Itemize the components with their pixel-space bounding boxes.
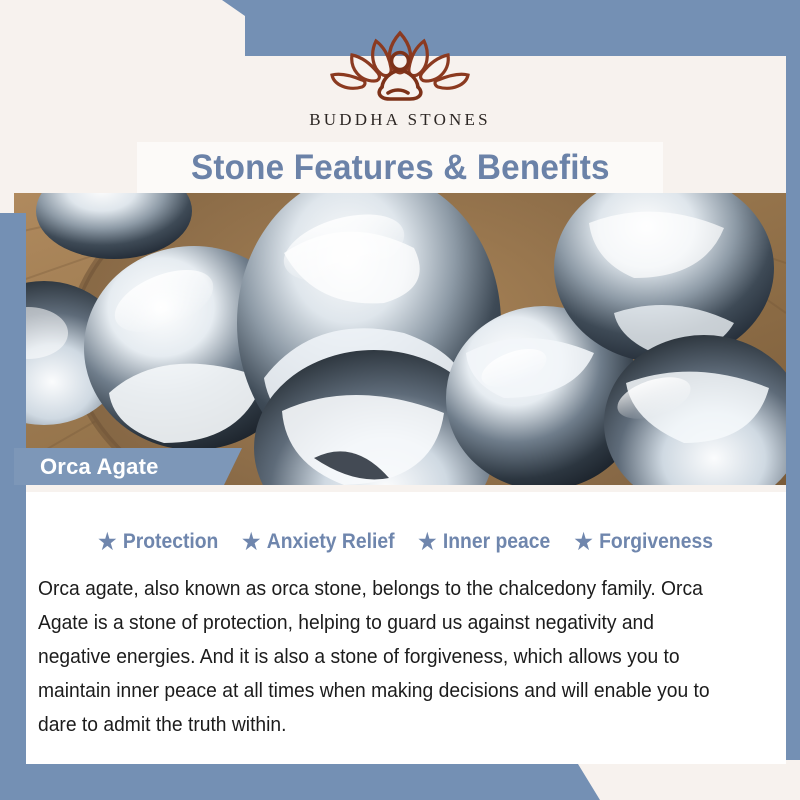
infographic-page: BUDDHA STONES Stone Features & Benefits …	[0, 0, 800, 800]
frame-left-accent	[0, 213, 26, 800]
stone-name-label: Orca Agate	[40, 454, 159, 480]
star-icon: ★	[418, 531, 436, 553]
benefit-label: Forgiveness	[599, 530, 713, 554]
brand-name: BUDDHA STONES	[309, 110, 491, 130]
star-icon: ★	[242, 531, 260, 553]
lotus-meditation-logo-icon	[305, 22, 495, 108]
benefit-item-anxiety-relief: ★ Anxiety Relief	[231, 530, 394, 554]
benefit-label: Anxiety Relief	[266, 530, 394, 554]
stone-name-tag: Orca Agate	[14, 448, 242, 485]
benefit-label: Inner peace	[443, 530, 550, 554]
benefit-item-protection: ★ Protection	[98, 530, 218, 554]
benefit-label: Protection	[123, 530, 219, 554]
benefit-item-forgiveness: ★ Forgiveness	[563, 530, 712, 554]
star-icon: ★	[98, 531, 116, 553]
star-icon: ★	[574, 531, 592, 553]
title-banner: Stone Features & Benefits	[137, 142, 663, 193]
benefits-list: ★ Protection ★ Anxiety Relief ★ Inner pe…	[26, 530, 786, 554]
orca-agate-stones-photo	[14, 193, 786, 485]
description-text: Orca agate, also known as orca stone, be…	[38, 572, 724, 742]
benefit-item-inner-peace: ★ Inner peace	[407, 530, 550, 554]
page-title: Stone Features & Benefits	[191, 148, 610, 188]
